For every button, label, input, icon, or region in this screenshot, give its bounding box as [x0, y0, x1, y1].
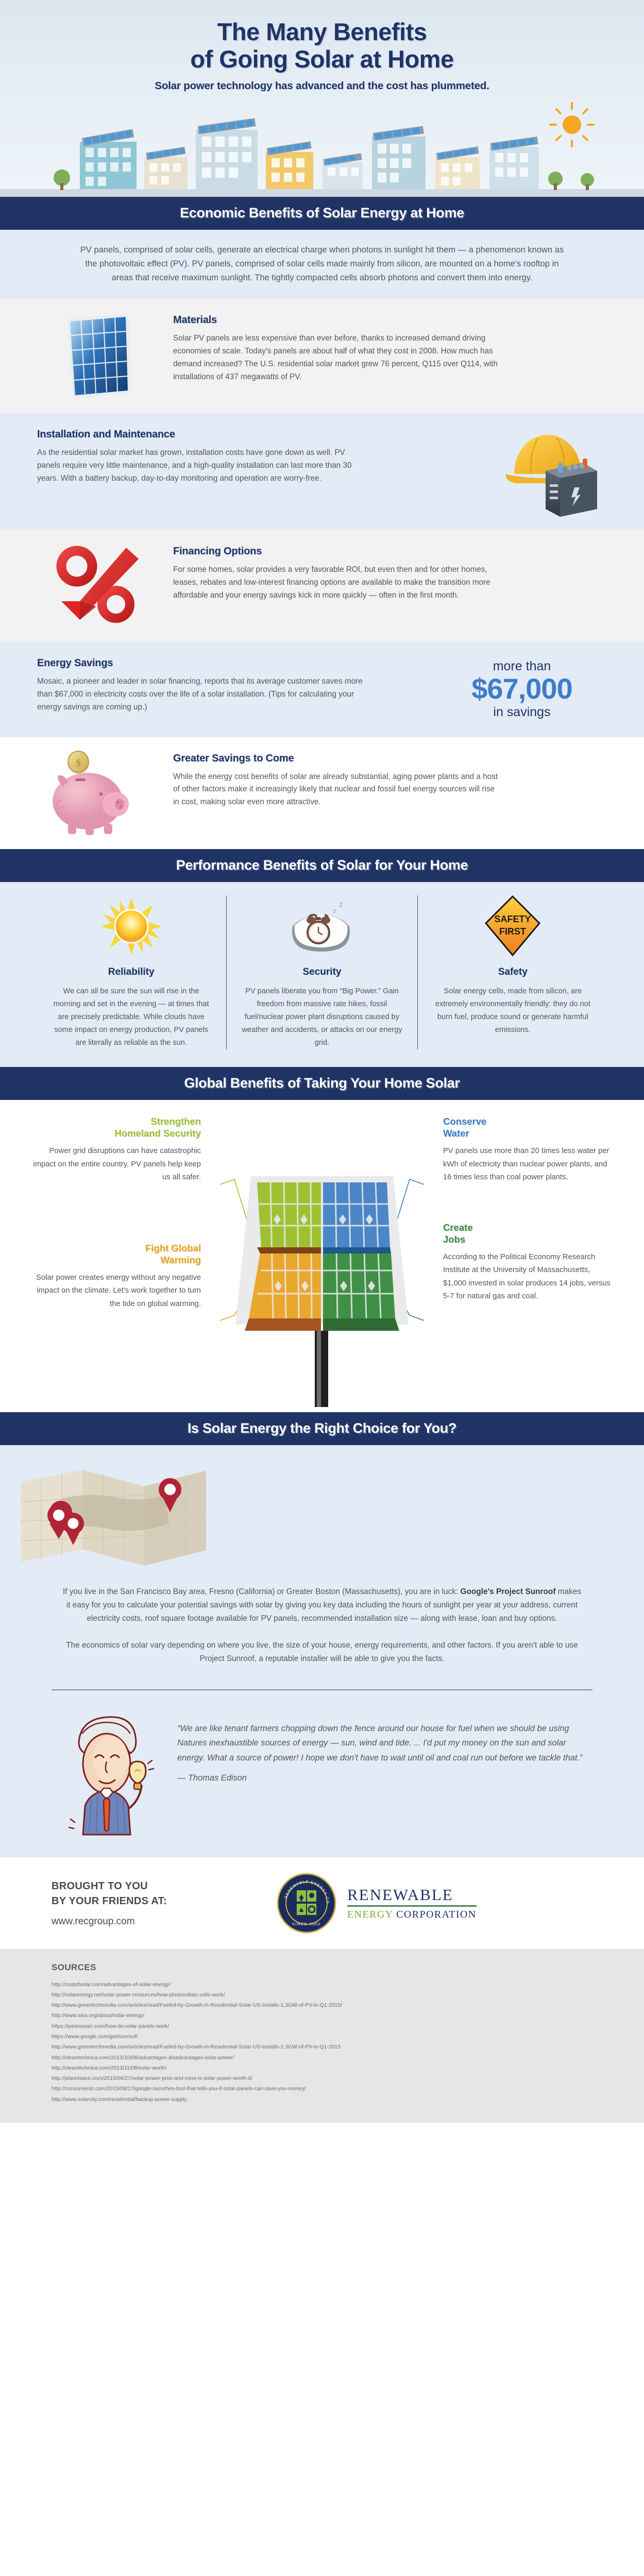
title-line2: Jobs: [443, 1234, 465, 1245]
wordmark-corporation: CORPORATION: [396, 1909, 476, 1920]
source-item[interactable]: http://costofsolar.com/advantages-of-sol…: [52, 1980, 592, 1990]
global-title-conserve-water: Conserve Water: [443, 1115, 613, 1139]
global-title-homeland-security: Strengthen Homeland Security: [31, 1115, 201, 1139]
financing-band: Financing Options For some homes, solar …: [0, 530, 644, 642]
hero-section: The Many Benefits of Going Solar at Home…: [0, 0, 644, 197]
choice-band: If you live in the San Francisco Bay are…: [0, 1445, 644, 1857]
materials-title: Materials: [173, 314, 607, 326]
sources-list: http://costofsolar.com/advantages-of-sol…: [52, 1980, 592, 2105]
title-line2: Homeland Security: [114, 1128, 201, 1139]
global-grid: Strengthen Homeland Security Power grid …: [31, 1115, 613, 1407]
source-item[interactable]: http://www.solarcity.com/residential/bac…: [52, 2095, 592, 2105]
energy-savings-band: Energy Savings Mosaic, a pioneer and lea…: [0, 642, 644, 737]
cityscape-illustration: [0, 101, 644, 197]
performance-body-safety: Solar energy cells, made from silicon, a…: [431, 985, 595, 1037]
source-item[interactable]: http://planetsave.com/2015/06/27/solar-p…: [52, 2074, 592, 2084]
rec-wordmark: RENEWABLE ENERGY CORPORATION: [347, 1887, 477, 1920]
page-title: The Many Benefits of Going Solar at Home: [0, 19, 644, 73]
piggy-bank-icon: $: [37, 751, 156, 836]
global-item-conserve-water: Conserve Water PV panels use more than 2…: [443, 1115, 613, 1184]
sources-section: SOURCES http://costofsolar.com/advantage…: [0, 1949, 644, 2123]
performance-body-reliability: We can all be sure the sun will rise in …: [49, 985, 213, 1049]
global-item-global-warming: Fight Global Warming Solar power creates…: [31, 1242, 201, 1311]
installation-copy: Installation and Maintenance As the resi…: [37, 427, 471, 485]
svg-text:z: z: [332, 907, 336, 914]
greater-savings-copy: Greater Savings to Come While the energy…: [173, 751, 607, 809]
materials-band: Materials Solar PV panels are less expen…: [0, 299, 644, 413]
global-right-column: Conserve Water PV panels use more than 2…: [443, 1115, 613, 1407]
section-title: Economic Benefits of Solar Energy at Hom…: [0, 205, 644, 221]
safety-first-sign-icon: SAFETY FIRST: [431, 895, 595, 957]
section-header-global: Global Benefits of Taking Your Home Sola…: [0, 1067, 644, 1100]
title-line2: Warming: [161, 1255, 201, 1265]
performance-col-safety: SAFETY FIRST Safety Solar energy cells, …: [418, 895, 608, 1049]
hardhat-battery-icon: [488, 427, 607, 517]
alarm-clock-pillow-icon: z z z: [240, 895, 403, 957]
performance-band: Reliability We can all be sure the sun w…: [0, 882, 644, 1067]
installation-body: As the residential solar market has grow…: [37, 447, 367, 485]
economic-intro-text: PV panels, comprised of solar cells, gen…: [0, 230, 644, 299]
source-item[interactable]: http://cleantechnica.com/2013/10/08/adva…: [52, 2053, 592, 2063]
savings-callout-pre: more than: [437, 659, 607, 674]
global-benefits-band: Strengthen Homeland Security Power grid …: [0, 1100, 644, 1412]
page-subtitle: Solar power technology has advanced and …: [0, 80, 644, 92]
energy-savings-title: Energy Savings: [37, 657, 421, 669]
brand-url[interactable]: www.recgroup.com: [52, 1916, 247, 1927]
global-title-global-warming: Fight Global Warming: [31, 1242, 201, 1266]
greater-savings-title: Greater Savings to Come: [173, 753, 607, 765]
four-color-solar-panel-icon: [206, 1115, 438, 1407]
percent-arrow-icon: [37, 544, 156, 629]
greater-savings-body: While the energy cost benefits of solar …: [173, 771, 503, 809]
wordmark-energy: ENERGY: [347, 1909, 393, 1920]
financing-copy: Financing Options For some homes, solar …: [173, 544, 607, 602]
wordmark-line1: RENEWABLE: [347, 1887, 477, 1903]
lightbulb-icon: [129, 1761, 146, 1789]
folded-map-with-pins-icon: [0, 1445, 644, 1580]
source-item[interactable]: http://www.greentechmedia.com/articles/r…: [52, 2001, 592, 2011]
edison-portrait-icon: [57, 1708, 160, 1837]
source-item[interactable]: http://www.seia.org/about/solar-energy/: [52, 2011, 592, 2021]
performance-title-safety: Safety: [431, 967, 595, 978]
sources-title: SOURCES: [52, 1962, 592, 1973]
installation-band: Installation and Maintenance As the resi…: [0, 413, 644, 530]
greater-savings-band: $ Greater: [0, 737, 644, 849]
wordmark-rule: [347, 1905, 477, 1907]
financing-body: For some homes, solar provides a very fa…: [173, 564, 503, 602]
energy-savings-body: Mosaic, a pioneer and leader in solar fi…: [37, 675, 367, 714]
choice-paragraph-1: If you live in the San Francisco Bay are…: [61, 1585, 583, 1625]
title-line1: Fight Global: [145, 1243, 201, 1253]
section-title: Is Solar Energy the Right Choice for You…: [0, 1420, 644, 1436]
global-title-create-jobs: Create Jobs: [443, 1222, 613, 1245]
installation-row: Installation and Maintenance As the resi…: [0, 413, 644, 530]
solar-panel-icon: [37, 312, 156, 400]
materials-body: Solar PV panels are less expensive than …: [173, 332, 503, 383]
safety-sign-line1: SAFETY: [495, 914, 531, 924]
svg-text:$: $: [76, 758, 81, 769]
source-item[interactable]: https://www.google.com/get/sunroof/: [52, 2032, 592, 2042]
energy-savings-row: Energy Savings Mosaic, a pioneer and lea…: [0, 642, 644, 737]
global-body-homeland-security: Power grid disruptions can have catastro…: [31, 1145, 201, 1184]
title-line1: Create: [443, 1222, 473, 1233]
performance-columns: Reliability We can all be sure the sun w…: [0, 882, 644, 1067]
materials-copy: Materials Solar PV panels are less expen…: [173, 312, 607, 383]
svg-text:z: z: [338, 900, 343, 909]
greater-savings-row: $ Greater: [0, 737, 644, 849]
savings-callout-amount: $67,000: [437, 674, 607, 704]
global-item-homeland-security: Strengthen Homeland Security Power grid …: [31, 1115, 201, 1184]
seal-since-text: SINCE 2002: [292, 1922, 321, 1926]
edison-quote-block: “We are like tenant farmers chopping dow…: [0, 1690, 644, 1857]
source-item[interactable]: http://solarenergy.net/solar-power-resou…: [52, 1990, 592, 2001]
page-title-line2: of Going Solar at Home: [190, 45, 453, 73]
performance-title-reliability: Reliability: [49, 967, 213, 978]
brand-line2: BY YOUR FRIENDS AT:: [52, 1895, 167, 1907]
materials-row: Materials Solar PV panels are less expen…: [0, 299, 644, 413]
section-title: Global Benefits of Taking Your Home Sola…: [0, 1075, 644, 1091]
source-item[interactable]: http://cleantechnica.com/2013/11/08/sola…: [52, 2063, 592, 2074]
edison-quote-text-wrap: “We are like tenant farmers chopping dow…: [177, 1708, 587, 1784]
brand-footer: BROUGHT TO YOU BY YOUR FRIENDS AT: www.r…: [0, 1857, 644, 1949]
brand-logo-block[interactable]: RENEWABLE ENERGY CORPORATION SINCE 2002 …: [276, 1873, 477, 1934]
page-title-line1: The Many Benefits: [217, 18, 427, 45]
choice-paragraph-2: The economics of solar vary depending on…: [61, 1639, 583, 1666]
wordmark-line2: ENERGY CORPORATION: [347, 1909, 477, 1920]
installation-title: Installation and Maintenance: [37, 429, 466, 440]
savings-callout-post: in savings: [437, 704, 607, 720]
brand-text-block: BROUGHT TO YOU BY YOUR FRIENDS AT: www.r…: [52, 1879, 247, 1927]
title-line2: Water: [443, 1128, 469, 1139]
savings-callout: more than $67,000 in savings: [437, 657, 607, 719]
economic-intro-band: PV panels, comprised of solar cells, gen…: [0, 230, 644, 299]
energy-savings-copy: Energy Savings Mosaic, a pioneer and lea…: [37, 657, 421, 714]
performance-col-reliability: Reliability We can all be sure the sun w…: [36, 895, 227, 1049]
global-left-column: Strengthen Homeland Security Power grid …: [31, 1115, 201, 1407]
safety-sign-line2: FIRST: [499, 926, 526, 937]
brought-to-you-label: BROUGHT TO YOU BY YOUR FRIENDS AT:: [52, 1879, 247, 1909]
rec-seal-logo-icon: RENEWABLE ENERGY CORPORATION SINCE 2002: [276, 1873, 337, 1934]
edison-quote-text: “We are like tenant farmers chopping dow…: [177, 1721, 587, 1766]
source-item[interactable]: http://www.greentechmedia.com/articles/r…: [52, 2042, 592, 2053]
choice-copy: If you live in the San Francisco Bay are…: [0, 1580, 644, 1671]
infographic-page: The Many Benefits of Going Solar at Home…: [0, 0, 644, 2123]
section-header-choice: Is Solar Energy the Right Choice for You…: [0, 1412, 644, 1445]
choice-p1-part-a: If you live in the San Francisco Bay are…: [63, 1587, 461, 1596]
financing-row: Financing Options For some homes, solar …: [0, 530, 644, 642]
choice-p1-bold: Google's Project Sunroof: [461, 1587, 556, 1596]
source-item[interactable]: http://consumerist.com/2015/08/17/google…: [52, 2084, 592, 2094]
title-line1: Strengthen: [150, 1116, 201, 1127]
performance-col-security: z z z: [227, 895, 417, 1049]
global-body-global-warming: Solar power creates energy without any n…: [31, 1272, 201, 1311]
source-item[interactable]: https://joinmosaic.com/how-do-solar-pane…: [52, 2022, 592, 2032]
section-header-economic: Economic Benefits of Solar Energy at Hom…: [0, 197, 644, 230]
financing-title: Financing Options: [173, 546, 607, 557]
performance-title-security: Security: [240, 967, 403, 978]
global-body-create-jobs: According to the Political Economy Resea…: [443, 1251, 613, 1303]
global-item-create-jobs: Create Jobs According to the Political E…: [443, 1222, 613, 1303]
edison-quote-attribution: — Thomas Edison: [177, 1773, 587, 1783]
performance-body-security: PV panels liberate you from “Big Power.”…: [240, 985, 403, 1049]
title-line1: Conserve: [443, 1116, 486, 1127]
brand-line1: BROUGHT TO YOU: [52, 1880, 148, 1892]
section-title: Performance Benefits of Solar for Your H…: [0, 857, 644, 873]
sun-icon: [550, 103, 594, 146]
global-body-conserve-water: PV panels use more than 20 times less wa…: [443, 1145, 613, 1184]
section-header-performance: Performance Benefits of Solar for Your H…: [0, 849, 644, 882]
sun-icon: [49, 895, 213, 957]
